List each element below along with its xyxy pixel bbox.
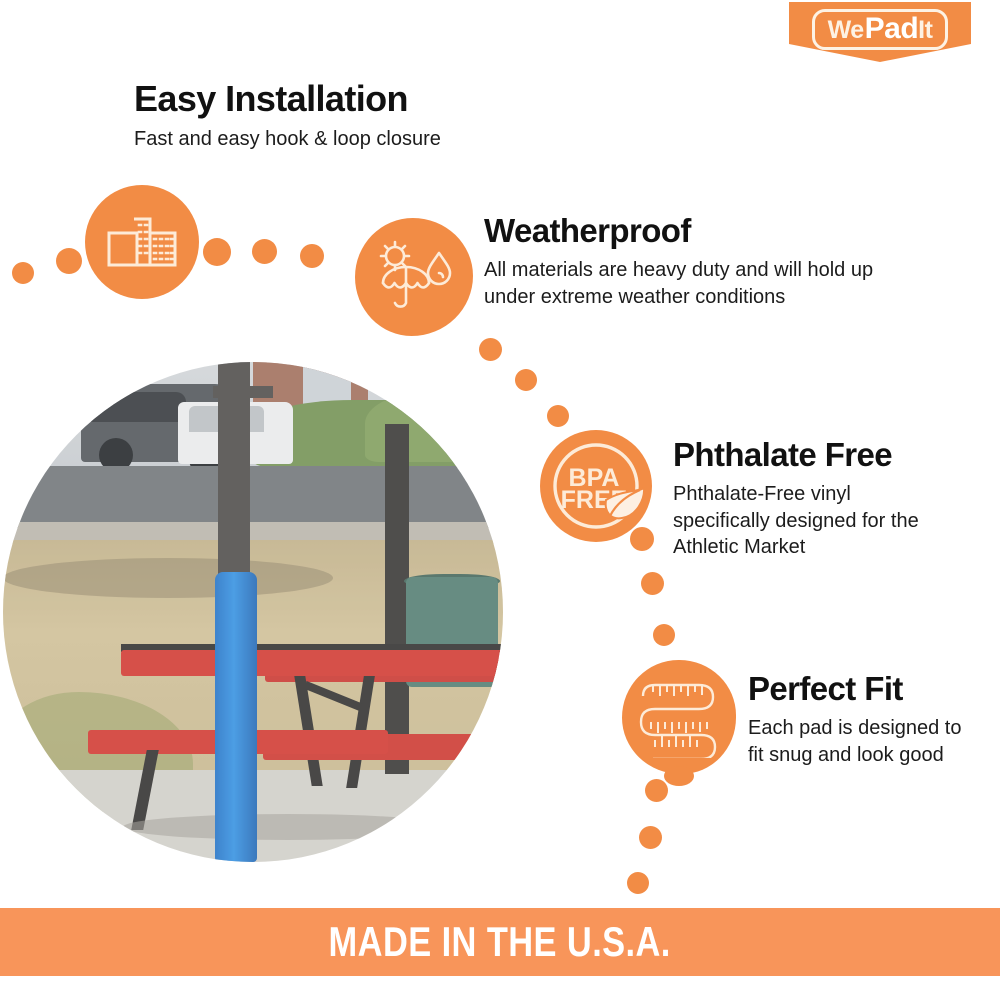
- trail-dot: [639, 826, 662, 849]
- measuring-tape-tail: [664, 766, 694, 786]
- feature-description-perfect-fit: Each pad is designed to fit snug and loo…: [748, 715, 978, 768]
- feature-title-phthalate-free: Phthalate Free: [673, 438, 892, 473]
- trail-dot: [12, 262, 34, 284]
- trail-dot: [653, 624, 675, 646]
- feature-description-phthalate-free: Phthalate-Free vinyl specifically design…: [673, 481, 938, 561]
- trail-dot: [645, 779, 668, 802]
- brand-logo: We Pad It: [789, 2, 971, 62]
- feature-title-weatherproof: Weatherproof: [484, 214, 691, 249]
- trail-dot: [515, 369, 537, 391]
- trail-dot: [479, 338, 502, 361]
- feature-description-weatherproof: All materials are heavy duty and will ho…: [484, 257, 904, 310]
- feature-description-easy-installation: Fast and easy hook & loop closure: [134, 126, 441, 153]
- infographic-page: We Pad It Easy Installation Fast and eas…: [0, 0, 1000, 987]
- product-photo: [3, 362, 503, 862]
- feature-title-easy-installation: Easy Installation: [134, 80, 408, 118]
- measuring-tape-icon: [622, 660, 736, 774]
- trail-dot: [203, 238, 231, 266]
- logo-text-we: We: [828, 18, 864, 43]
- trail-dot: [641, 572, 664, 595]
- logo-outline: We Pad It: [812, 9, 949, 50]
- made-in-usa-text: MADE IN THE U.S.A.: [329, 918, 671, 966]
- logo-text-it: It: [918, 18, 932, 43]
- bpa-free-leaf-icon: BPA FREE: [540, 430, 652, 542]
- logo-text-pad: Pad: [865, 14, 919, 44]
- trail-dot: [252, 239, 277, 264]
- feature-title-perfect-fit: Perfect Fit: [748, 672, 903, 707]
- building-icon: [85, 185, 199, 299]
- trail-dot: [300, 244, 324, 268]
- trail-dot: [630, 527, 654, 551]
- trail-dot: [547, 405, 569, 427]
- umbrella-sun-raindrop-icon: [355, 218, 473, 336]
- trail-dot: [56, 248, 82, 274]
- made-in-usa-banner: MADE IN THE U.S.A.: [0, 908, 1000, 976]
- trail-dot: [627, 872, 649, 894]
